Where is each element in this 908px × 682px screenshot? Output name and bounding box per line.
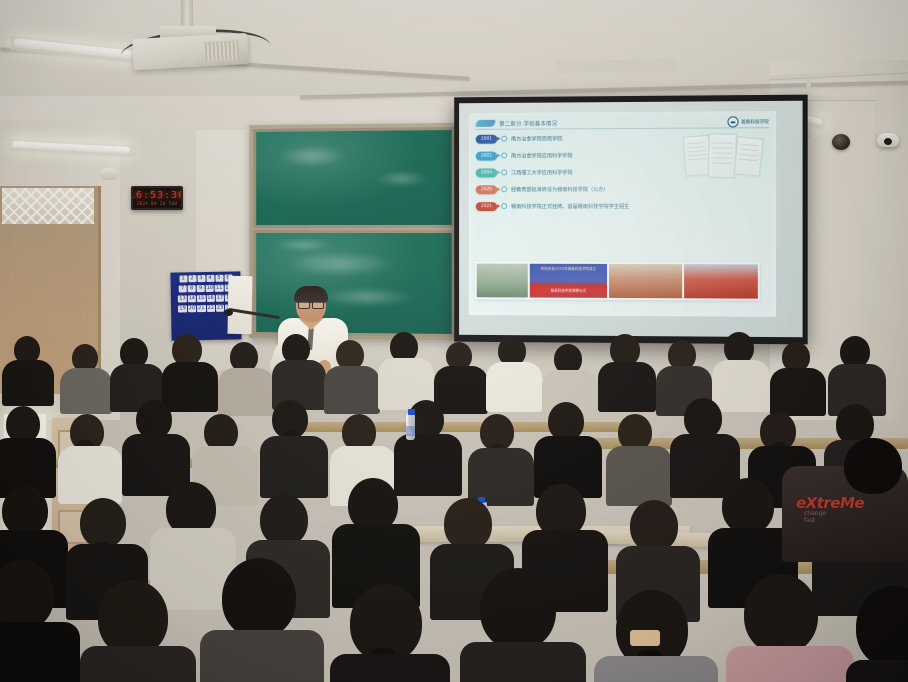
timeline-dot-icon [501,153,507,159]
seat-number: 10 [206,285,214,292]
slide-header: 第二部分 学校基本情况 湘南科技学院 [476,116,769,130]
seat-number: 17 [216,295,224,302]
lecture-hall-photo: 16:53:30 2024 09 26 THU 1 2 3 4 5 6 7 8 … [0,0,908,682]
year-label: 2002 [481,153,492,158]
dome-security-camera [877,133,899,147]
slide-title: 第二部分 学校基本情况 [499,119,557,127]
projection-screen: 第二部分 学校基本情况 湘南科技学院 [454,95,807,345]
slide-swoosh-icon [476,120,496,127]
collage-caption-2: 赣南科技学院揭牌仪式 [530,288,607,293]
year-badge: 2004 [476,168,498,176]
slide-body: 2001 南方冶金学院西苑学院 2002 南方冶金学院应用科学学院 [476,133,769,210]
timeline-dot-icon [501,187,507,193]
blackboard-upper [253,127,455,228]
timeline-row: 2020 经教育部批准转设为赣南科技学院（公办） [476,185,769,194]
seat-number: 2 [188,275,196,282]
seat-number: 3 [197,275,205,282]
seat-number: 11 [215,285,223,292]
timeline-dot-icon [501,170,507,176]
seat-number: 9 [197,285,205,292]
wall-speaker [832,134,850,150]
seat-number: 1 [179,275,187,282]
university-name: 湘南科技学院 [741,119,769,125]
wall-conduit [876,96,881,136]
year-badge: 2001 [476,135,498,144]
seat-number: 21 [197,305,205,312]
year-label: 2020 [481,187,492,192]
seat-number: 7 [179,285,187,292]
presentation-slide: 第二部分 学校基本情况 湘南科技学院 [469,111,776,317]
year-label: 2004 [481,170,492,175]
clock-date: 2024 09 26 THU [137,201,178,206]
door-grille [2,188,94,224]
dome-security-camera [100,168,118,180]
seat-number: 5 [215,275,223,282]
timeline-text: 南方冶金学院应用科学学院 [511,152,572,159]
collage-photo-campus-gate [477,264,528,298]
timeline-dot-icon [501,203,507,209]
collage-photo-ribbon-cutting [609,264,682,298]
seat-number: 14 [188,295,196,302]
timeline-text: 经教育部批准转设为赣南科技学院（公办） [511,186,609,193]
year-label: 2001 [481,136,492,141]
light-fixture-frame [556,59,676,73]
student-audience: eXtreMe change fast [0,330,908,682]
shirt-sub-text: change fast [804,510,826,524]
seat-number: 20 [188,305,196,312]
seat-number: 22 [206,305,214,312]
photo-collage: 热烈庆祝2020年赣南科技学院成立 赣南科技学院揭牌仪式 [475,262,760,301]
microphone-icon [224,309,233,316]
screen-surface: 第二部分 学校基本情况 湘南科技学院 [459,101,803,338]
collage-caption: 热烈庆祝2020年赣南科技学院成立 [530,266,607,271]
seat-number: 8 [188,285,196,292]
seat-number: 23 [216,305,224,312]
timeline-text: 赣南科技学院正式挂牌，首届赣南科技学院学生招生 [511,203,629,210]
seat-number: 16 [206,295,214,302]
timeline-row: 2004 江西理工大学应用科学学院 [476,168,769,177]
year-badge: 2002 [476,152,498,161]
year-label: 2021 [481,204,492,209]
timeline-row: 2001 南方冶金学院西苑学院 [476,133,769,143]
seat-number: 15 [197,295,205,302]
clock-time: 16:53:30 [131,191,183,201]
university-emblem-icon [728,116,739,127]
timeline-row: 2021 赣南科技学院正式挂牌，首届赣南科技学院学生招生 [476,202,769,211]
water-bottle [406,414,415,440]
slide-logo: 湘南科技学院 [728,116,769,127]
led-wall-clock: 16:53:30 2024 09 26 THU [131,186,183,210]
year-badge: 2020 [476,185,498,193]
timeline-text: 南方冶金学院西苑学院 [511,135,562,142]
glasses-icon [298,301,324,307]
timeline-row: 2002 南方冶金学院应用科学学院 [476,150,769,160]
projector-vent [204,40,239,62]
year-badge: 2021 [476,202,498,210]
collage-photo-ceremony: 热烈庆祝2020年赣南科技学院成立 赣南科技学院揭牌仪式 [530,264,607,298]
seat-number: 13 [178,295,186,302]
wall-notice-paper [227,276,252,334]
seat-number: 19 [178,305,186,312]
timeline-dot-icon [501,136,507,142]
timeline-text: 江西理工大学应用科学学院 [511,169,572,176]
collage-photo-aerial-campus [684,264,758,298]
wall-conduit [806,96,880,100]
seat-number: 4 [206,275,214,282]
